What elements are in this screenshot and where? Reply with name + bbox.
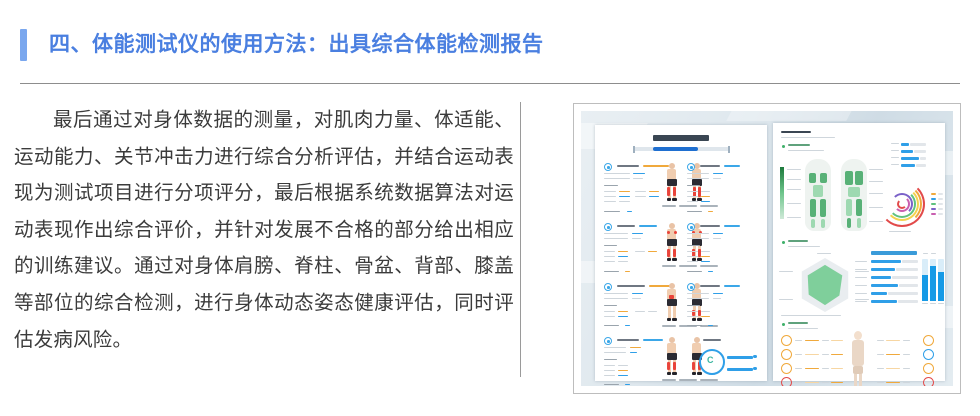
accent-bar-icon xyxy=(20,29,27,61)
backdrop-shape-icon xyxy=(726,111,856,121)
report-image: C 综合 xyxy=(581,111,953,386)
page-header: 四、体能测试仪的使用方法：出具综合体能检测报告 xyxy=(20,28,960,62)
report-image-frame: C 综合 xyxy=(573,103,961,394)
text-column: 最后通过对身体数据的测量，对肌肉力量、体适能、运动能力、关节冲击力进行综合分析评… xyxy=(14,102,514,358)
body-paragraph: 最后通过对身体数据的测量，对肌肉力量、体适能、运动能力、关节冲击力进行综合分析评… xyxy=(14,102,514,358)
progress-tick xyxy=(728,146,730,153)
content-area: 最后通过对身体数据的测量，对肌肉力量、体适能、运动能力、关节冲击力进行综合分析评… xyxy=(0,96,980,406)
grade-letter: C xyxy=(707,355,714,365)
report-page-left: C 综合 xyxy=(595,125,767,381)
radar-chart xyxy=(795,255,855,315)
header-divider xyxy=(20,83,960,84)
slide-page: 四、体能测试仪的使用方法：出具综合体能检测报告 最后通过对身体数据的测量，对肌肉… xyxy=(0,0,980,416)
report-progress-fill xyxy=(653,147,698,151)
progress-tick xyxy=(633,146,635,153)
column-divider xyxy=(520,102,521,377)
report-left-title xyxy=(653,135,709,141)
report-page-right xyxy=(773,123,945,381)
skeleton-figure-icon xyxy=(849,331,867,386)
page-title: 四、体能测试仪的使用方法：出具综合体能检测报告 xyxy=(49,29,544,61)
